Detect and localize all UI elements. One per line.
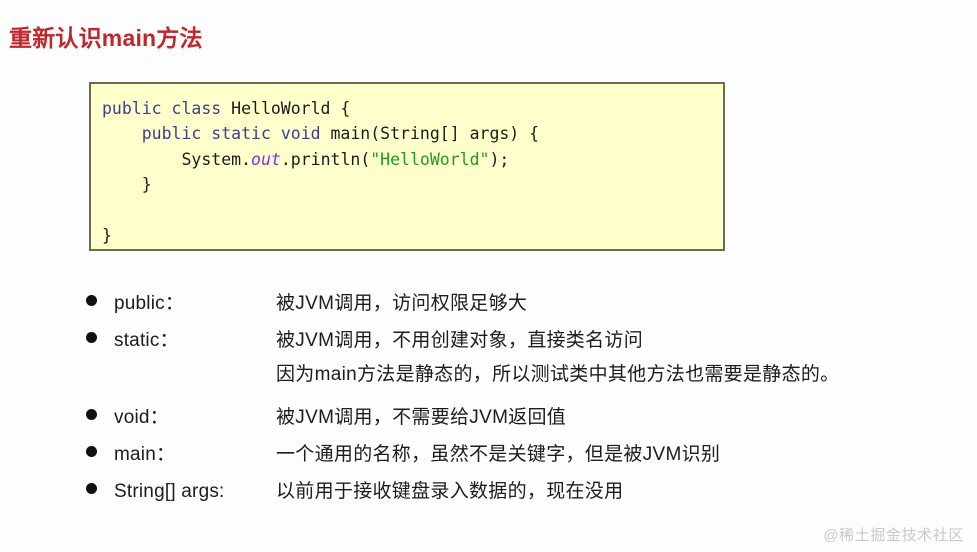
list-item: static：被JVM调用，不用创建对象，直接类名访问 [86, 325, 946, 352]
code-token-plain: HelloWorld { [231, 99, 350, 118]
code-line: } [102, 223, 723, 249]
code-token-plain: main(String[] args) { [331, 124, 540, 143]
list-item-description: 被JVM调用，不需要给JVM返回值 [276, 402, 946, 429]
code-line: public static void main(String[] args) { [102, 121, 723, 147]
bullet-list: public：被JVM调用，访问权限足够大static：被JVM调用，不用创建对… [86, 288, 946, 513]
list-item-description: 被JVM调用，访问权限足够大 [276, 288, 946, 315]
list-item: String[] args:以前用于接收键盘录入数据的，现在没用 [86, 476, 946, 503]
list-item: void：被JVM调用，不需要给JVM返回值 [86, 402, 946, 429]
code-token-keyword: public static void [142, 124, 331, 143]
bullet-dot-icon [86, 409, 97, 420]
list-item: main：一个通用的名称，虽然不是关键字，但是被JVM识别 [86, 439, 946, 466]
bullet-dot-icon [86, 295, 97, 306]
list-item-term: main： [114, 439, 276, 466]
page-title: 重新认识main方法 [9, 24, 203, 53]
bullet-dot-icon [86, 446, 97, 457]
list-item-continuation: 因为main方法是静态的，所以测试类中其他方法也需要是静态的。 [86, 359, 946, 386]
list-item-description: 以前用于接收键盘录入数据的，现在没用 [276, 476, 946, 503]
code-token-field: out [251, 150, 281, 169]
bullet-dot-icon [86, 332, 97, 343]
code-token-plain: } [142, 175, 152, 194]
list-item-description: 一个通用的名称，虽然不是关键字，但是被JVM识别 [276, 439, 946, 466]
code-token-plain: } [102, 226, 112, 245]
bullet-dot-icon [86, 483, 97, 494]
code-token-plain: ); [489, 150, 509, 169]
watermark: @稀土掘金技术社区 [823, 524, 964, 545]
bullet-spacer [86, 366, 97, 377]
code-token-keyword: public class [102, 99, 231, 118]
list-item-term: public： [114, 288, 276, 315]
list-item: public：被JVM调用，访问权限足够大 [86, 288, 946, 315]
code-line: } [102, 172, 723, 198]
code-token-plain: System. [181, 150, 251, 169]
code-line [102, 198, 723, 224]
list-item-term: void： [114, 402, 276, 429]
code-snippet-block: public class HelloWorld { public static … [89, 82, 725, 251]
code-token-plain: .println( [281, 150, 370, 169]
list-item-term: String[] args: [114, 481, 276, 503]
list-item-term-spacer [114, 364, 276, 386]
code-token-string: "HelloWorld" [370, 150, 489, 169]
list-item-description: 被JVM调用，不用创建对象，直接类名访问 [276, 325, 946, 352]
code-line: public class HelloWorld { [102, 96, 723, 122]
list-item-continuation-text: 因为main方法是静态的，所以测试类中其他方法也需要是静态的。 [276, 359, 946, 386]
code-line: System.out.println("HelloWorld"); [102, 147, 723, 173]
list-item-term: static： [114, 325, 276, 352]
